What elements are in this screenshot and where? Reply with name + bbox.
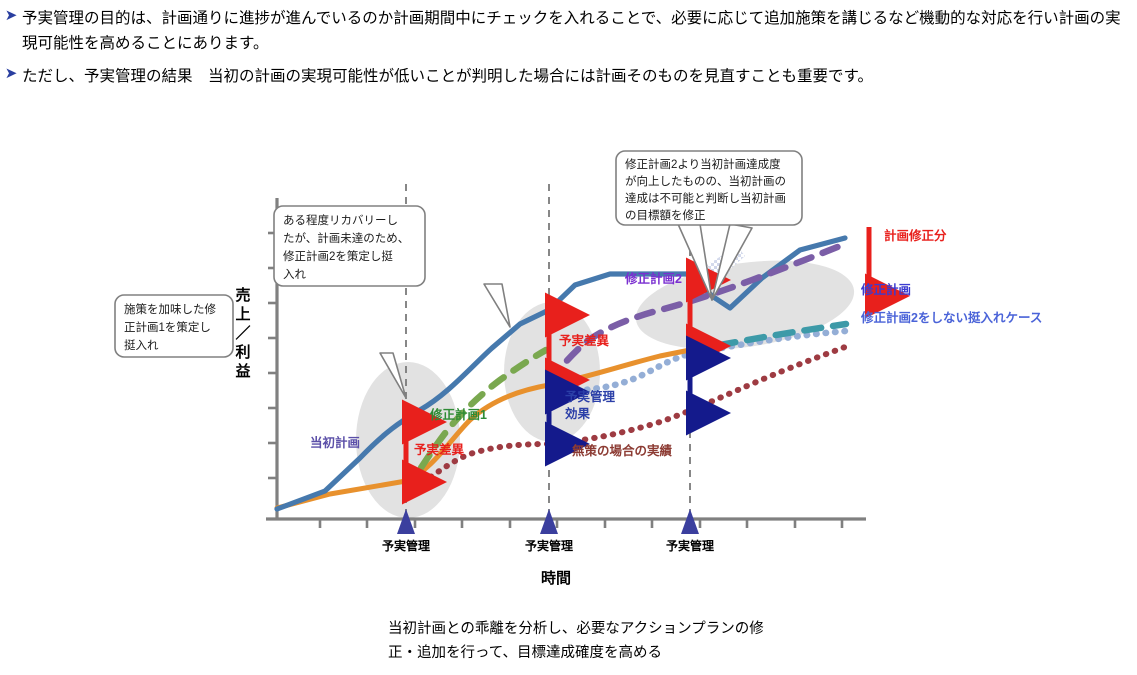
footer-note-line-1: 当初計画との乖離を分析し、必要なアクションプランの修 — [388, 617, 764, 641]
ann-variance-2: 予実差異 — [559, 333, 610, 348]
ann-plan-revision: 計画修正分 — [884, 228, 947, 243]
checkpoint-marker-3 — [681, 509, 699, 534]
focus-halo-3 — [630, 248, 860, 362]
footer-note-line-2: 正・追加を行って、目標達成確度を高める — [388, 641, 764, 665]
bullet-item: ➤ ただし、予実管理の結果 当初の計画の実現可能性が低いことが判明した場合には計… — [0, 64, 1125, 89]
checkpoint-marker-2 — [540, 509, 558, 534]
ann-variance-1: 予実差異 — [414, 442, 465, 457]
progress-management-diagram: 予実管理 予実管理 予実管理 売上／利益 時間 施策を加味した修 正計画1を策定… — [0, 110, 1137, 675]
ann-no-action-actual: 無策の場合の実績 — [572, 443, 673, 458]
y-axis-title: 売上／利益 — [235, 286, 250, 380]
callout-3-line-2: が向上したものの、当初計画の — [625, 174, 786, 188]
ann-revised-plan-2: 修正計画2 — [624, 271, 682, 286]
callout-2: ある程度リカバリーし たが、計画未達のため、 修正計画2を策定し挺 入れ — [274, 206, 510, 327]
checkpoint-label-1: 予実管理 — [382, 538, 430, 553]
ann-revised-plan: 修正計画 — [860, 282, 911, 297]
callout-2-line-3: 修正計画2を策定し挺 — [283, 249, 393, 263]
callout-3-line-4: の目標額を修正 — [625, 208, 706, 222]
bullet-text: 予実管理の目的は、計画通りに進捗が進んでいるのか計画期間中にチェックを入れること… — [22, 6, 1125, 56]
ann-management-effect-l1: 予実管理 — [565, 389, 616, 404]
arrow-bullet-icon: ➤ — [0, 64, 22, 84]
checkpoint-label-3: 予実管理 — [666, 538, 714, 553]
checkpoint-markers: 予実管理 予実管理 予実管理 — [382, 509, 714, 553]
arrow-bullet-icon: ➤ — [0, 6, 22, 26]
callout-2-line-1: ある程度リカバリーし — [283, 213, 398, 227]
x-axis-title: 時間 — [541, 569, 571, 587]
series-actual — [277, 350, 690, 508]
ann-management-effect-l2: 効果 — [565, 406, 591, 421]
callout-2-line-4: 入れ — [283, 268, 306, 281]
callout-3-line-1: 修正計画2より当初計画達成度 — [625, 157, 781, 171]
callout-2-line-2: たが、計画未達のため、 — [283, 231, 409, 245]
callout-1-line-1: 施策を加味した修 — [124, 302, 216, 316]
checkpoint-label-2: 予実管理 — [525, 538, 573, 553]
intro-bullet-list: ➤ 予実管理の目的は、計画通りに進捗が進んでいるのか計画期間中にチェックを入れる… — [0, 6, 1125, 97]
callout-1-line-3: 挺入れ — [124, 338, 159, 352]
callout-2-tail — [484, 284, 510, 327]
callout-1: 施策を加味した修 正計画1を策定し 挺入れ — [115, 295, 406, 398]
ann-revised-plan-1: 修正計画1 — [429, 407, 487, 422]
footer-note: 当初計画との乖離を分析し、必要なアクションプランの修 正・追加を行って、目標達成… — [388, 617, 764, 665]
bullet-text: ただし、予実管理の結果 当初の計画の実現可能性が低いことが判明した場合には計画そ… — [22, 64, 1125, 89]
callout-3-line-3: 達成は不可能と判断し当初計画 — [625, 191, 786, 205]
ann-no-rev2-case: 修正計画2をしない挺入れケース — [860, 310, 1042, 325]
ann-original-plan: 当初計画 — [310, 435, 360, 450]
bullet-item: ➤ 予実管理の目的は、計画通りに進捗が進んでいるのか計画期間中にチェックを入れる… — [0, 6, 1125, 56]
callout-1-line-2: 正計画1を策定し — [124, 320, 211, 334]
